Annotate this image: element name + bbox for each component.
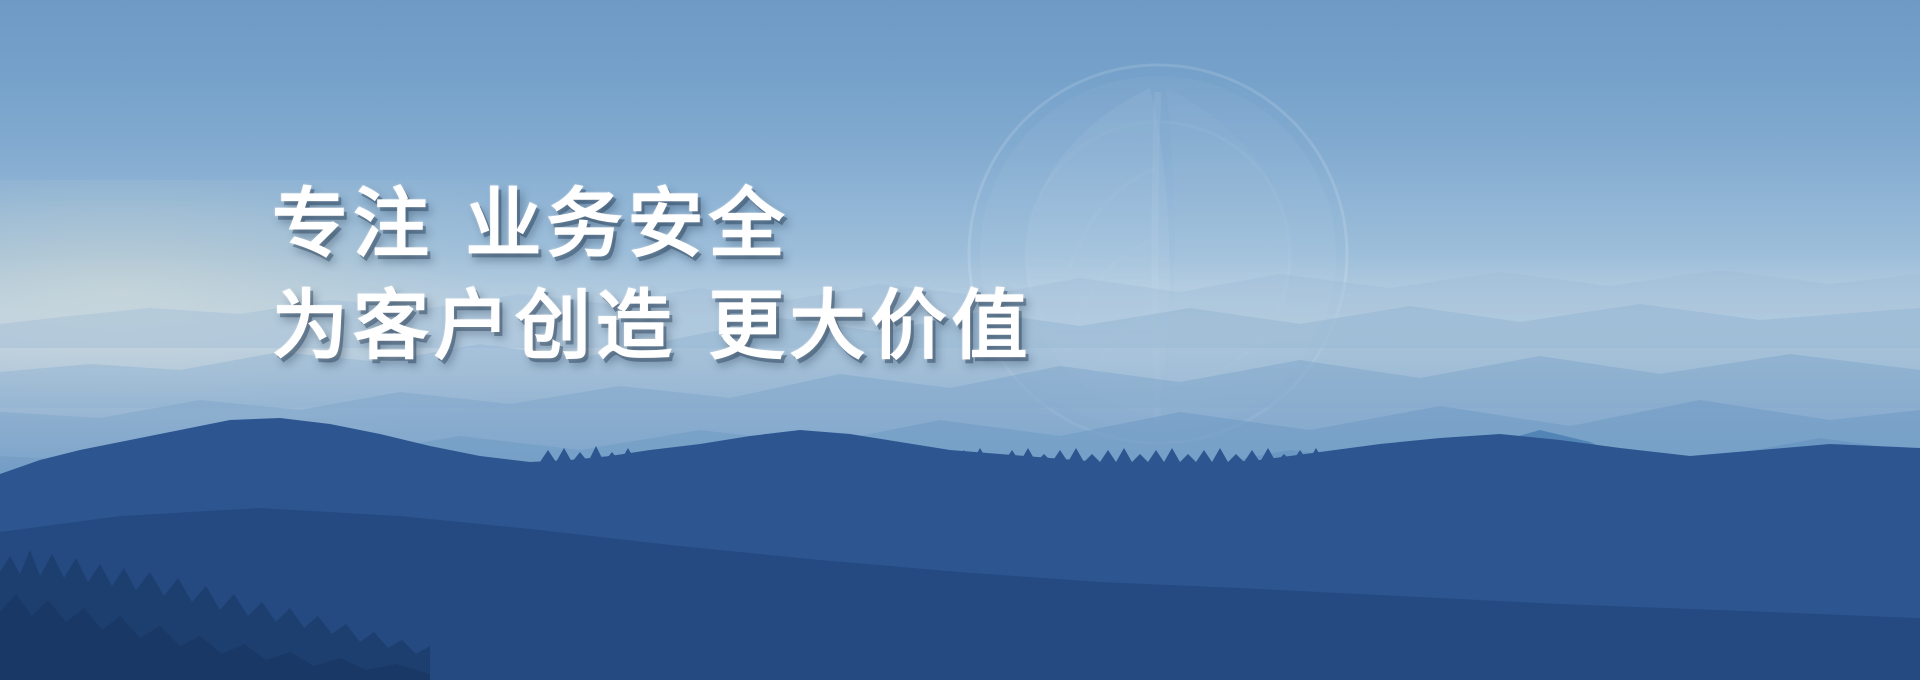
headline-block: 专注 业务安全 为客户创造 更大价值: [272, 176, 1132, 374]
headline-line-1: 专注 业务安全: [272, 176, 1132, 272]
hero-banner: 专注 业务安全 为客户创造 更大价值: [0, 0, 1920, 680]
pine-tree-cluster: [0, 516, 430, 680]
headline-line-2: 为客户创造 更大价值: [272, 278, 1132, 374]
